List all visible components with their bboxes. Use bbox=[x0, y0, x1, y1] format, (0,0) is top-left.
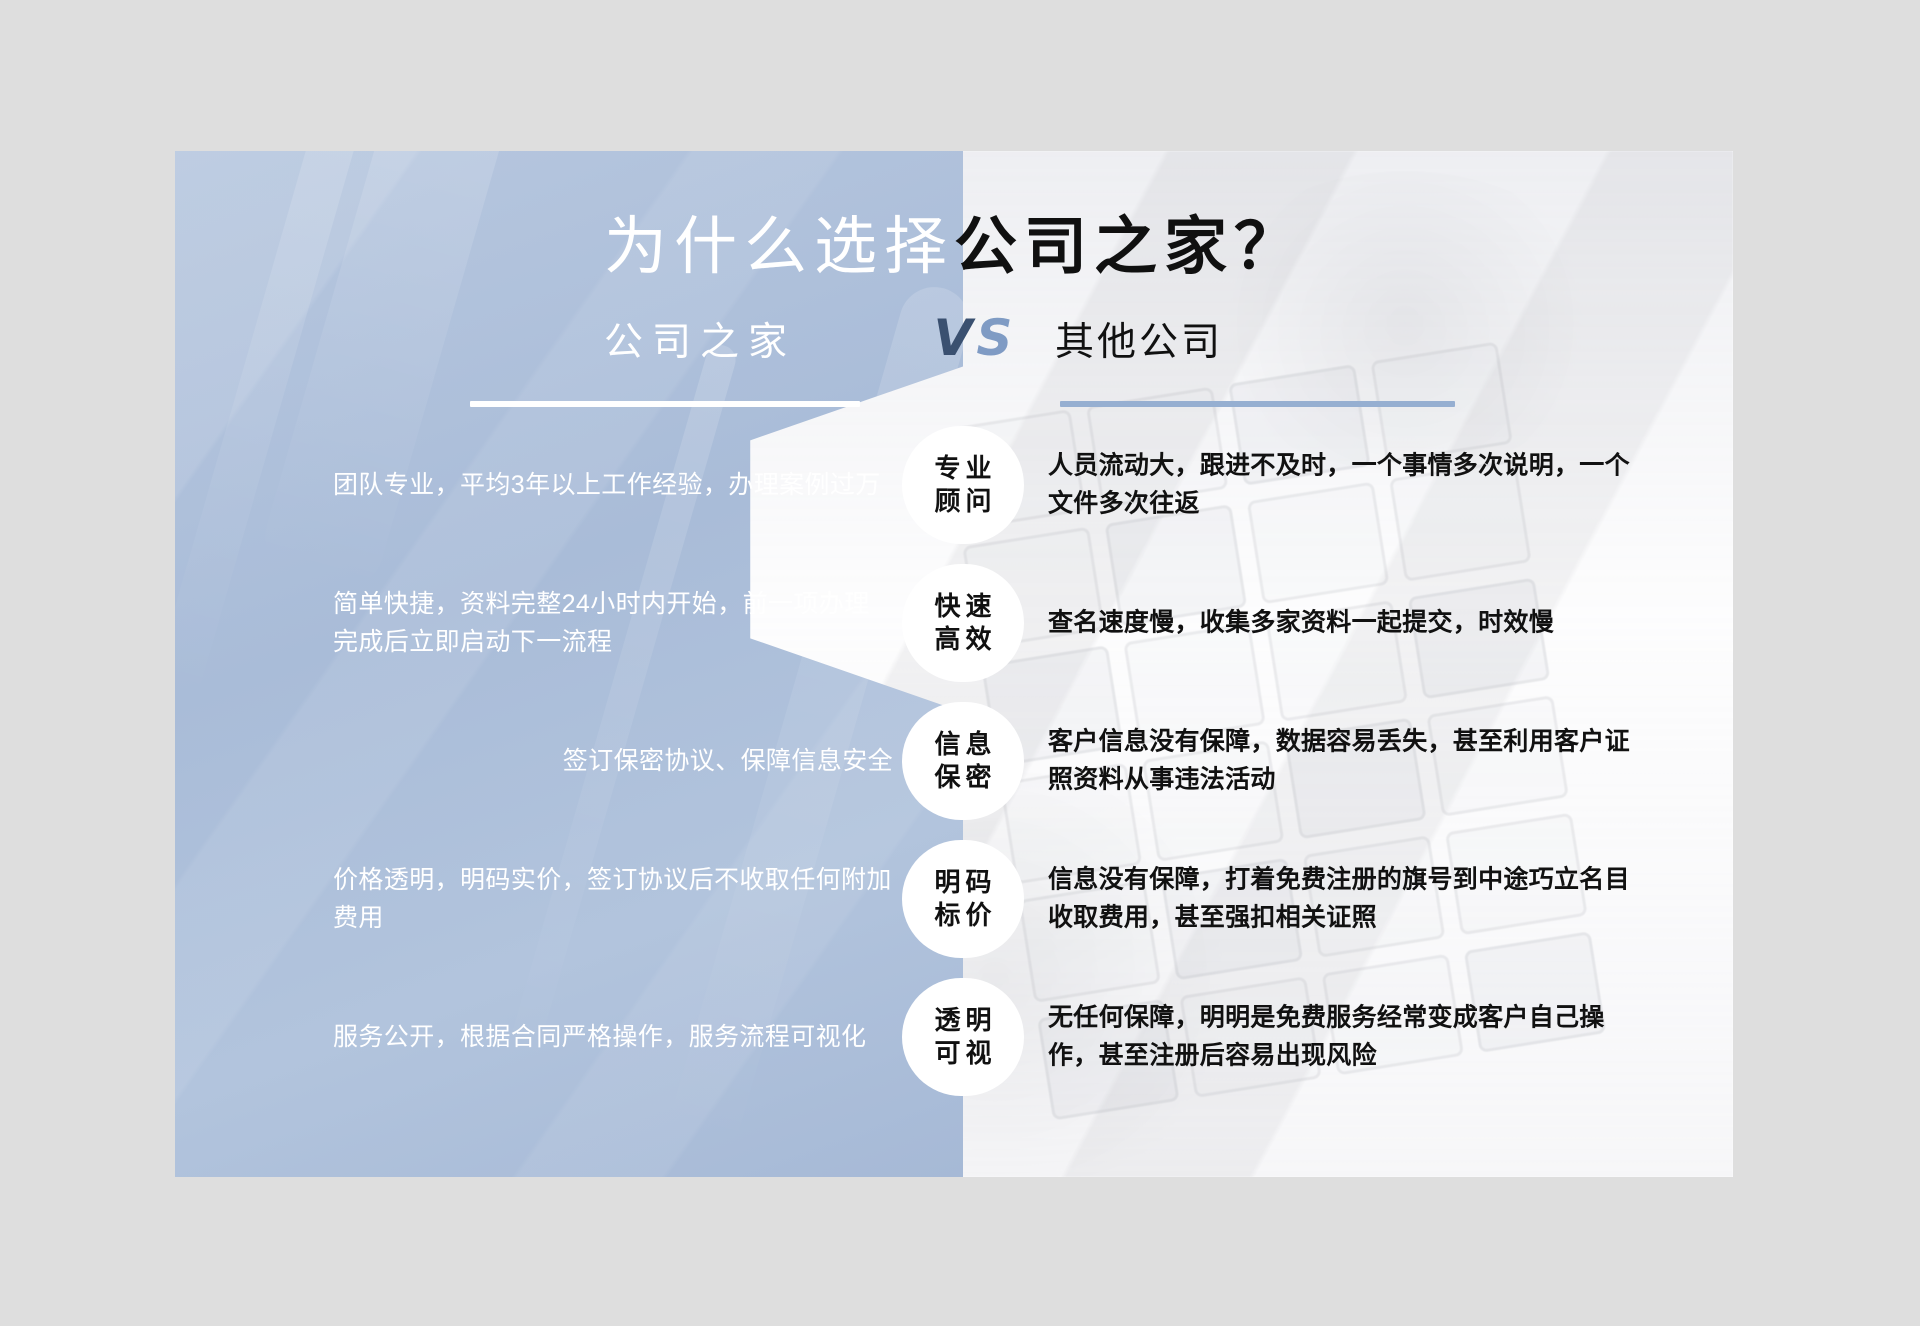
category-badge: 明码 标价 bbox=[902, 840, 1024, 958]
category-line-1: 专业 bbox=[929, 452, 996, 485]
ours-text: 签订保密协议、保障信息安全 bbox=[333, 742, 893, 780]
theirs-text: 客户信息没有保障，数据容易丢失，甚至利用客户证照资料从事违法活动 bbox=[1048, 724, 1648, 799]
vs-left-label: 公司之家 bbox=[515, 311, 885, 367]
comparison-row: 价格透明，明码实价，签订协议后不收取任何附加费用 明码 标价 信息没有保障，打着… bbox=[175, 830, 1733, 968]
title-dark-part: 公司之家？ bbox=[954, 212, 1304, 282]
comparison-row: 服务公开，根据合同严格操作，服务流程可视化 透明 可视 无任何保障，明明是免费服… bbox=[175, 968, 1733, 1106]
theirs-text: 人员流动大，跟进不及时，一个事情多次说明，一个文件多次往返 bbox=[1048, 448, 1648, 523]
theirs-text: 查名速度慢，收集多家资料一起提交，时效慢 bbox=[1048, 604, 1648, 642]
category-badge: 信息 保密 bbox=[902, 702, 1024, 820]
category-line-2: 可视 bbox=[929, 1037, 996, 1070]
category-badge: 快速 高效 bbox=[902, 564, 1024, 682]
category-line-2: 高效 bbox=[929, 623, 996, 656]
category-line-1: 明码 bbox=[929, 866, 996, 899]
title-white-part: 为什么选择 bbox=[604, 212, 954, 282]
vs-badge-s: S bbox=[976, 309, 1016, 367]
vs-badge: VS bbox=[910, 309, 1040, 367]
category-line-2: 保密 bbox=[929, 761, 996, 794]
slide-stage: 为什么选择公司之家？ 公司之家 VS 其他公司 团队专业，平均3年以上工作经验，… bbox=[0, 0, 1920, 1326]
vs-right-underline bbox=[1060, 401, 1455, 407]
theirs-text: 信息没有保障，打着免费注册的旗号到中途巧立名目收取费用，甚至强扣相关证照 bbox=[1048, 862, 1648, 937]
vs-left-underline bbox=[470, 401, 860, 407]
comparison-card: 为什么选择公司之家？ 公司之家 VS 其他公司 团队专业，平均3年以上工作经验，… bbox=[175, 151, 1733, 1177]
theirs-text: 无任何保障，明明是免费服务经常变成客户自己操作，甚至注册后容易出现风险 bbox=[1048, 1000, 1648, 1075]
category-badge: 透明 可视 bbox=[902, 978, 1024, 1096]
category-badge: 专业 顾问 bbox=[902, 426, 1024, 544]
category-line-1: 快速 bbox=[929, 590, 996, 623]
comparison-row: 团队专业，平均3年以上工作经验，办理案例过万 专业 顾问 人员流动大，跟进不及时… bbox=[175, 416, 1733, 554]
comparison-row: 简单快捷，资料完整24小时内开始，前一项办理完成后立即启动下一流程 快速 高效 … bbox=[175, 554, 1733, 692]
ours-text: 团队专业，平均3年以上工作经验，办理案例过万 bbox=[333, 466, 893, 504]
category-line-2: 顾问 bbox=[929, 485, 996, 518]
category-line-1: 信息 bbox=[929, 728, 996, 761]
ours-text: 简单快捷，资料完整24小时内开始，前一项办理完成后立即启动下一流程 bbox=[333, 585, 893, 661]
comparison-row: 签订保密协议、保障信息安全 信息 保密 客户信息没有保障，数据容易丢失，甚至利用… bbox=[175, 692, 1733, 830]
vs-badge-v: V bbox=[934, 309, 977, 367]
ours-text: 价格透明，明码实价，签订协议后不收取任何附加费用 bbox=[333, 861, 893, 937]
category-line-2: 标价 bbox=[929, 899, 996, 932]
comparison-rows: 团队专业，平均3年以上工作经验，办理案例过万 专业 顾问 人员流动大，跟进不及时… bbox=[175, 416, 1733, 1106]
category-line-1: 透明 bbox=[929, 1004, 996, 1037]
vs-header: 公司之家 VS 其他公司 bbox=[175, 301, 1733, 411]
ours-text: 服务公开，根据合同严格操作，服务流程可视化 bbox=[333, 1018, 893, 1056]
vs-right-label: 其他公司 bbox=[1055, 311, 1425, 367]
page-title: 为什么选择公司之家？ bbox=[175, 196, 1733, 287]
